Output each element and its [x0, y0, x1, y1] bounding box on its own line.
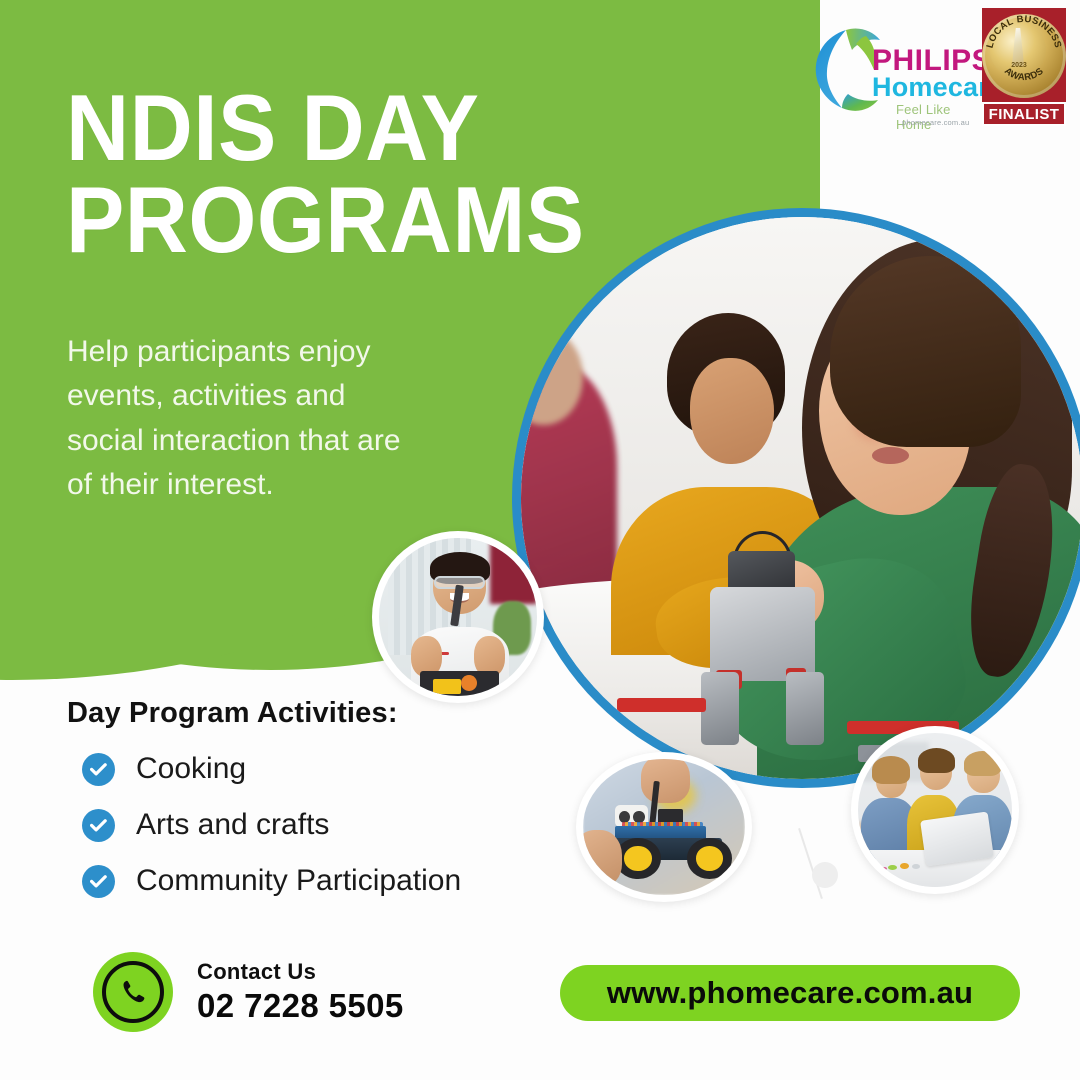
contact-text: Contact Us 02 7228 5505 [197, 959, 404, 1025]
mini-photo-2-inner [583, 759, 745, 895]
website-url: www.phomecare.com.au [607, 975, 973, 1011]
activities-list: Cooking Arts and crafts Community Partic… [82, 752, 461, 920]
m2-wheel-hub-front [696, 846, 723, 870]
list-item: Arts and crafts [82, 808, 461, 842]
m2-wheel-hub-rear [624, 846, 651, 870]
m1-red-blur [490, 538, 537, 604]
brand-logo[interactable]: PHILIPS Homecare Feel Like Home phomecar… [812, 22, 972, 130]
mini-photo-3-inner [858, 733, 1012, 887]
m3-components [886, 859, 938, 874]
m2-hand-left [583, 830, 622, 887]
page-title: NDIS DAY PROGRAMS [66, 82, 585, 266]
brand-url: phomecare.com.au [902, 118, 969, 127]
robot-body [710, 587, 815, 680]
check-circle-icon [82, 865, 115, 898]
m3-hair-left [872, 756, 911, 784]
m3-hair-middle [918, 748, 955, 773]
svg-text:AWARDS: AWARDS [1002, 66, 1046, 84]
decorative-dot-right [812, 862, 838, 888]
award-badge: LOCAL BUSINESS 2023 AWARDS FINALIST [976, 8, 1072, 132]
award-arc-bottom-label: AWARDS [1002, 66, 1046, 84]
activity-label: Community Participation [136, 864, 461, 898]
website-button[interactable]: www.phomecare.com.au [560, 965, 1020, 1021]
award-ribbon-label: FINALIST [989, 106, 1060, 123]
poster-canvas: NDIS DAY PROGRAMS Help participants enjo… [0, 0, 1080, 1080]
scene-girl-hair-front [830, 256, 1021, 447]
activities-heading: Day Program Activities: [67, 697, 398, 730]
scene-boy-face [690, 358, 774, 465]
m2-wheel-rear [615, 838, 660, 879]
check-circle-icon [82, 809, 115, 842]
check-circle-icon [82, 753, 115, 786]
mini-photo-boy-goggles [372, 531, 544, 703]
activity-label: Cooking [136, 752, 246, 786]
m3-bit-2 [900, 863, 908, 869]
scene-robot [690, 543, 836, 745]
headline-line-2: PROGRAMS [66, 174, 585, 266]
mini-photo-1-inner [379, 538, 537, 696]
list-item: Cooking [82, 752, 461, 786]
classroom-scene [521, 217, 1080, 779]
main-photo [521, 217, 1080, 779]
m3-bit-3 [912, 864, 920, 869]
award-arc-text-bottom: AWARDS [982, 8, 1066, 92]
m3-bit-4 [880, 867, 886, 871]
m2-wheel-front [687, 838, 732, 879]
m2-hand-top [641, 759, 690, 803]
m1-yellow-block [433, 679, 461, 695]
brand-tagline: Feel Like Home [896, 102, 972, 132]
headline-line-1: NDIS DAY [66, 75, 479, 180]
award-ribbon: FINALIST [982, 102, 1066, 126]
subheading: Help participants enjoy events, activiti… [67, 330, 417, 508]
activity-label: Arts and crafts [136, 808, 329, 842]
contact-label: Contact Us [197, 959, 404, 985]
scene-brick-red-1 [617, 698, 707, 711]
contact-phone-number[interactable]: 02 7228 5505 [197, 987, 404, 1025]
mini-photo-robot-car [576, 752, 752, 902]
m3-bit-1 [888, 865, 897, 870]
contact-block: Contact Us 02 7228 5505 [93, 952, 404, 1032]
mini-photo-kids-tablet [851, 726, 1019, 894]
phone-icon [118, 977, 148, 1007]
phone-icon-ring [102, 961, 164, 1023]
robot-leg-right [786, 672, 824, 745]
phone-icon-badge[interactable] [93, 952, 173, 1032]
main-photo-circle [512, 208, 1080, 788]
robot-leg-left [701, 672, 739, 745]
m3-hair-right [964, 751, 1001, 776]
list-item: Community Participation [82, 864, 461, 898]
